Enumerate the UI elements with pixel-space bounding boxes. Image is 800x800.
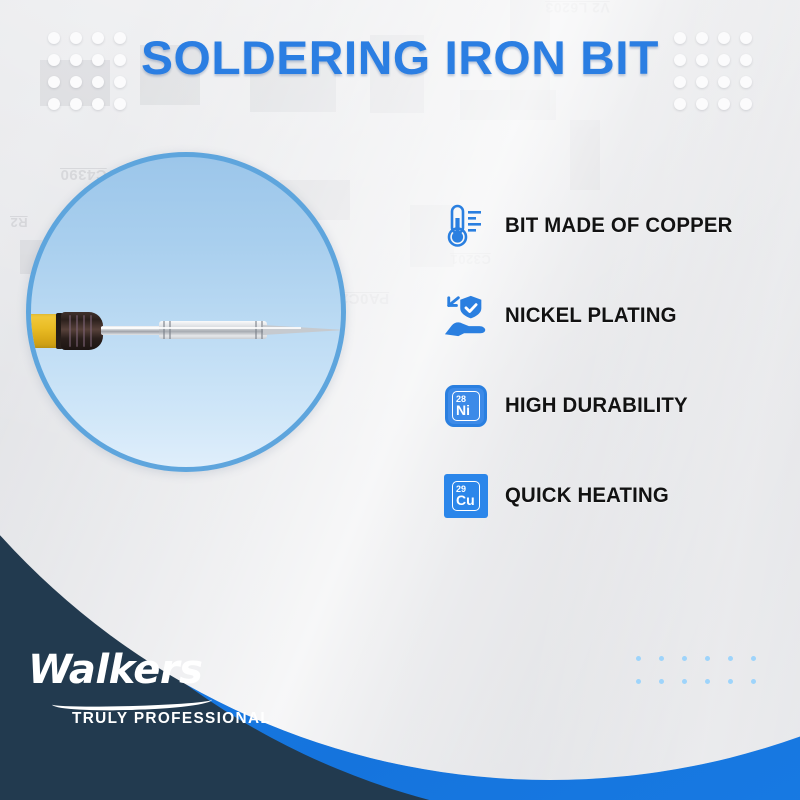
feature-label: QUICK HEATING bbox=[505, 484, 669, 508]
bit-ferrule bbox=[61, 312, 103, 350]
feature-label: HIGH DURABILITY bbox=[505, 394, 688, 418]
hand-shield-check-icon bbox=[443, 293, 489, 339]
feature-item: 28 Ni HIGH DURABILITY bbox=[443, 376, 773, 436]
bit-yellow-connector bbox=[26, 314, 59, 348]
bit-highlight bbox=[101, 327, 301, 329]
feature-item: 29 Cu QUICK HEATING bbox=[443, 466, 773, 526]
element-tile-nickel-icon: 28 Ni bbox=[443, 383, 489, 429]
soldering-iron-bit-illustration bbox=[26, 305, 343, 355]
thermometer-icon bbox=[443, 203, 489, 249]
dot-grid-bottom-right-icon bbox=[636, 656, 756, 684]
brand-name: Walkers bbox=[28, 650, 328, 690]
feature-label: NICKEL PLATING bbox=[505, 304, 677, 328]
brand-logo: Walkers TRULY PROFESSIONAL bbox=[28, 650, 328, 728]
product-infographic: C4390 R2 C252 PA0C200 P408 C3201 V2 L620… bbox=[0, 0, 800, 800]
brand-tagline: TRULY PROFESSIONAL bbox=[72, 710, 318, 728]
element-tile-copper-icon: 29 Cu bbox=[443, 473, 489, 519]
header: SOLDERING IRON BIT bbox=[0, 0, 800, 118]
dot-grid-right-icon bbox=[674, 32, 752, 110]
element-symbol: Cu bbox=[456, 493, 475, 507]
feature-item: BIT MADE OF COPPER bbox=[443, 196, 773, 256]
bit-collar bbox=[159, 321, 267, 339]
product-image-circle bbox=[26, 152, 346, 472]
element-symbol: Ni bbox=[456, 403, 470, 417]
feature-list: BIT MADE OF COPPER NICKEL PLATING 28 bbox=[443, 196, 773, 556]
feature-label: BIT MADE OF COPPER bbox=[505, 214, 733, 238]
feature-item: NICKEL PLATING bbox=[443, 286, 773, 346]
